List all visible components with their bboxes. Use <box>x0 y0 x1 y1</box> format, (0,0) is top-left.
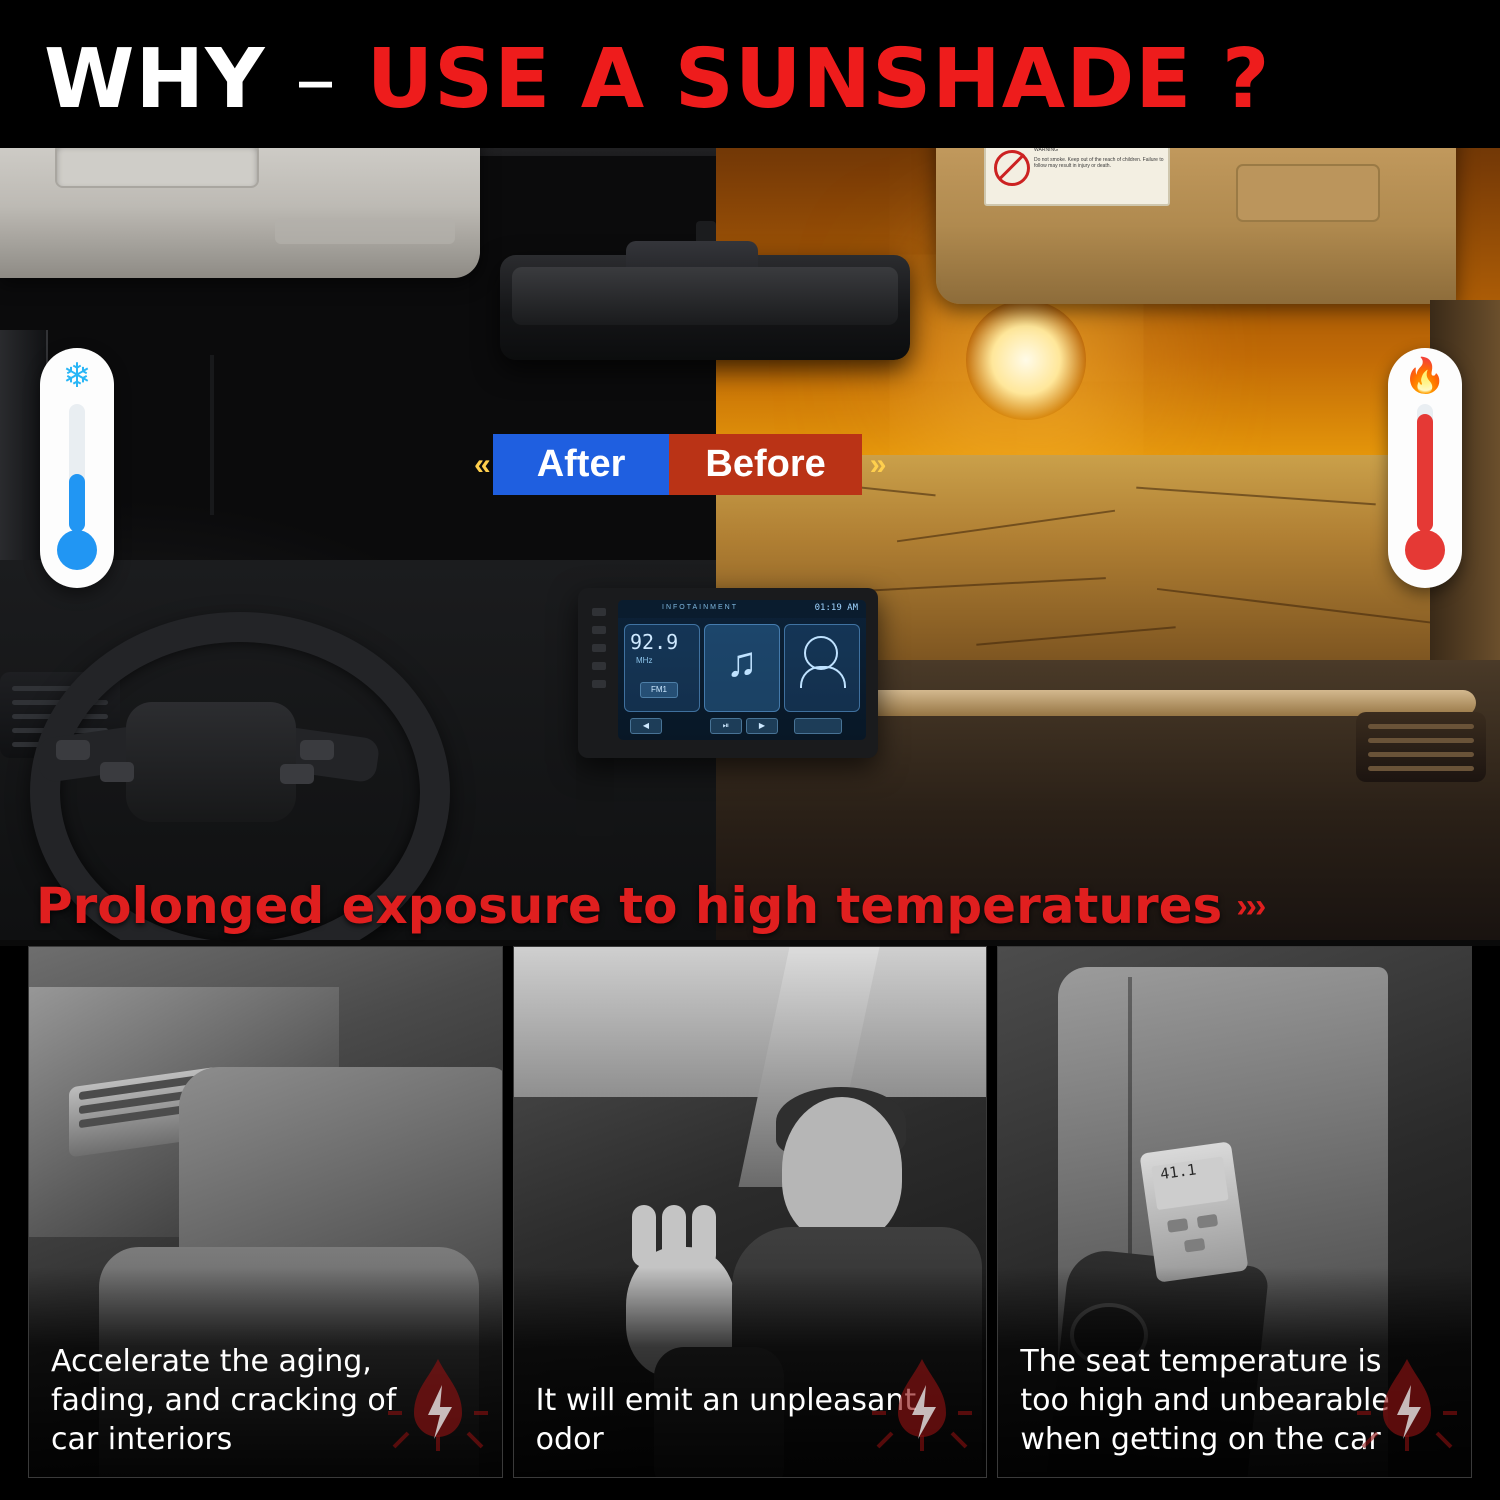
left-visor-edge <box>275 218 455 244</box>
infrared-thermometer: 41.1 <box>1140 1141 1249 1283</box>
wheel-button-4 <box>280 764 314 784</box>
mirror-glass <box>512 267 898 325</box>
title-use-a-sunshade: USE A SUNSHADE ? <box>367 32 1271 127</box>
title-dash: – <box>295 32 337 127</box>
right-air-vent <box>1356 712 1486 782</box>
wheel-button-2 <box>100 762 134 782</box>
head-unit-brand: INFOTAINMENT <box>662 604 738 611</box>
headline-bar: Prolonged exposure to high temperatures … <box>0 862 1500 950</box>
hu-preset-button[interactable]: FM1 <box>640 682 678 698</box>
rearview-mirror <box>500 255 910 360</box>
title-why: WHY <box>44 32 265 127</box>
card-odor: It will emit an unpleasant odor <box>513 946 988 1478</box>
before-label: Before <box>669 434 861 495</box>
snowflake-icon: ❄ <box>40 356 114 396</box>
card-seat-temp: 41.1 The seat temperature is too high an… <box>997 946 1472 1478</box>
visor-warning-body: Do not smoke. Keep out of the reach of c… <box>1030 155 1168 171</box>
right-visor-slot <box>1236 164 1380 222</box>
hot-thermometer-fill <box>1417 414 1433 532</box>
hu-play-button[interactable]: ⏯ <box>710 718 742 734</box>
card-aging: Accelerate the aging, fading, and cracki… <box>28 946 503 1478</box>
after-label: After <box>493 434 670 495</box>
car-head-unit: INFOTAINMENT 01:19 AM 92.9 MHz ♫ ◀ ⏯ ▶ F… <box>578 588 878 758</box>
head-unit-transport-controls[interactable]: ◀ ⏯ ▶ FM1 <box>624 718 860 734</box>
hu-seat-button[interactable] <box>794 718 842 734</box>
left-chevron-icon: « <box>466 448 493 482</box>
hot-thermometer-bulb <box>1405 530 1445 570</box>
hot-thermometer-tube <box>1417 404 1433 532</box>
heat-warning-stamp-icon <box>1353 1351 1461 1469</box>
headline-chevron-icon: ››› <box>1236 887 1264 926</box>
poster-root: 警 告 WARNING Do not smoke. Keep out of th… <box>0 0 1500 1500</box>
flame-icon: 🔥 <box>1388 356 1462 396</box>
sun <box>966 300 1086 420</box>
cold-thermometer-tube <box>69 404 85 532</box>
music-note-icon: ♫ <box>726 638 758 686</box>
wheel-button-1 <box>56 740 90 760</box>
head-unit-side-buttons[interactable] <box>588 608 610 698</box>
thermometer-button-1[interactable] <box>1167 1218 1188 1233</box>
windshield <box>514 947 988 1097</box>
head-unit-stand <box>576 752 614 836</box>
right-chevron-icon: » <box>862 448 889 482</box>
cold-thermometer: ❄ <box>40 348 114 588</box>
thermometer-button-3[interactable] <box>1184 1238 1205 1253</box>
cold-thermometer-bulb <box>57 530 97 570</box>
head-unit-statusbar: INFOTAINMENT 01:19 AM <box>618 600 866 618</box>
person-head <box>782 1097 902 1242</box>
benefit-cards: Accelerate the aging, fading, and cracki… <box>0 946 1500 1500</box>
before-after-labels: « After Before » <box>466 434 888 495</box>
headline-text: Prolonged exposure to high temperatures <box>36 877 1222 935</box>
wheel-button-3 <box>300 740 334 760</box>
heat-warning-stamp-icon <box>384 1351 492 1469</box>
steering-wheel-hub <box>126 702 296 822</box>
head-unit-clock: 01:19 AM <box>815 603 858 613</box>
header-bar: WHY – USE A SUNSHADE ? <box>0 0 1500 148</box>
head-unit-screen[interactable]: INFOTAINMENT 01:19 AM 92.9 MHz ♫ ◀ ⏯ ▶ F… <box>618 600 866 740</box>
page-title: WHY – USE A SUNSHADE ? <box>44 32 1270 127</box>
radio-frequency: 92.9 <box>630 630 678 654</box>
hot-thermometer: 🔥 <box>1388 348 1462 588</box>
cold-thermometer-fill <box>69 474 85 532</box>
heat-warning-stamp-icon <box>868 1351 976 1469</box>
no-smoking-icon <box>994 150 1030 186</box>
left-visor-slot <box>55 142 259 188</box>
hu-prev-button[interactable]: ◀ <box>630 718 662 734</box>
seat-occupant-icon <box>804 636 838 670</box>
hu-next-button[interactable]: ▶ <box>746 718 778 734</box>
radio-band-label: MHz <box>636 656 652 665</box>
mirror-cable <box>210 355 214 515</box>
thermometer-button-2[interactable] <box>1197 1214 1218 1229</box>
